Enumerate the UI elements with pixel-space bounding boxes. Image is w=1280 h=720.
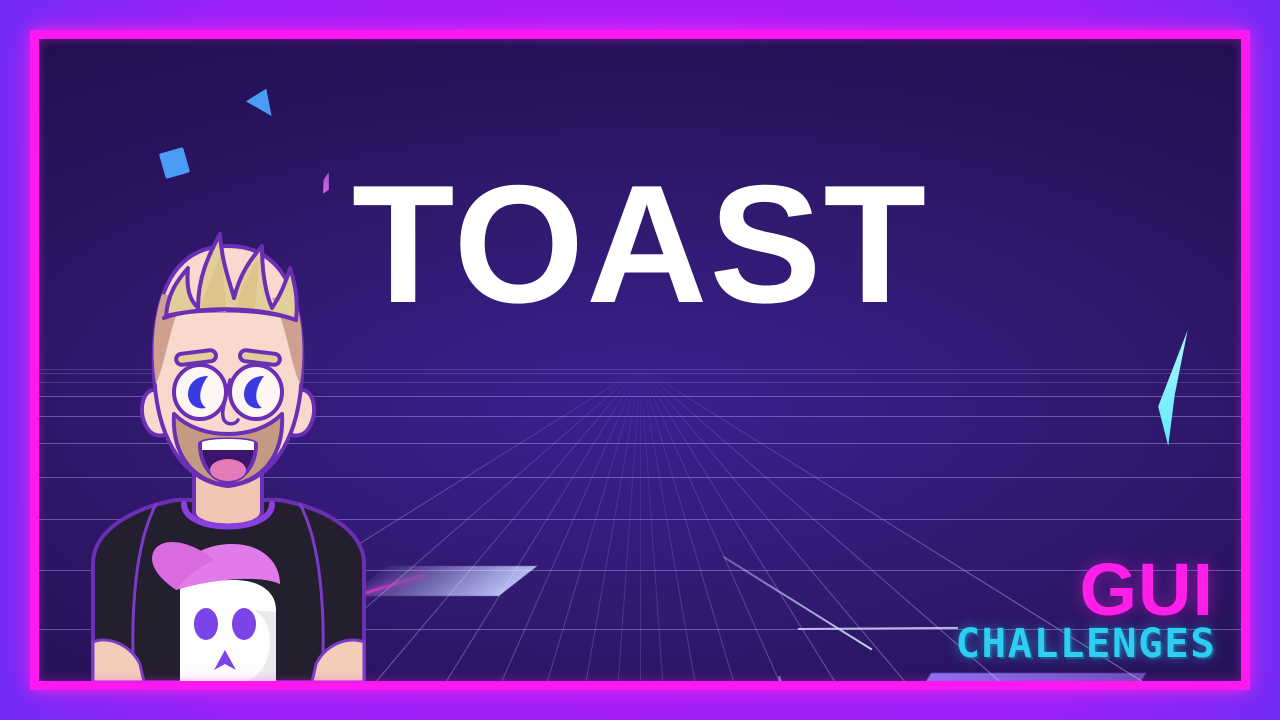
- brand-primary-text: GUI: [958, 556, 1214, 624]
- brand-secondary-text: CHALLENGES: [956, 624, 1217, 664]
- brand-lockup: GUI CHALLENGES: [958, 556, 1214, 664]
- host-avatar: [48, 212, 408, 682]
- grid-highlight-cell-right: [905, 673, 1146, 682]
- confetti-triangle-blue-top: [246, 89, 280, 124]
- video-thumbnail: TOAST GUI CHALLENGES: [0, 0, 1280, 720]
- grid-highlight-edge-steep: [778, 676, 814, 682]
- scene-panel: TOAST GUI CHALLENGES: [38, 38, 1242, 682]
